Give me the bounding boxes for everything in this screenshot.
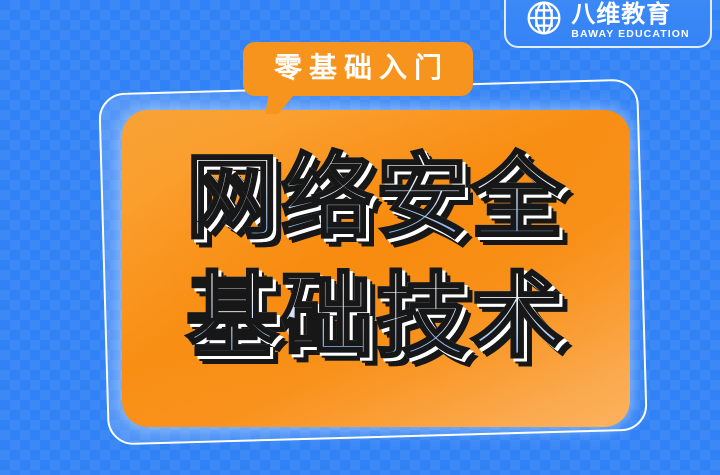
- orange-content-card: 网络安全 基础技术: [122, 110, 630, 427]
- title-line-2: 基础技术: [122, 257, 630, 376]
- poster-canvas: 网络安全 基础技术 零基础入门 八维教育 BAWAY EDUCATION: [0, 0, 720, 475]
- brand-name-cn: 八维教育: [571, 2, 689, 26]
- title-block: 网络安全 基础技术: [122, 138, 630, 376]
- title-line-1: 网络安全: [122, 138, 630, 257]
- zero-basis-badge: 零基础入门: [243, 42, 473, 96]
- globe-grid-icon: [526, 0, 562, 41]
- brand-name-en: BAWAY EDUCATION: [571, 29, 689, 40]
- badge-tail-icon: [265, 94, 295, 114]
- brand-logo: 八维教育 BAWAY EDUCATION: [504, 0, 712, 48]
- brand-logo-inner: 八维教育 BAWAY EDUCATION: [526, 0, 689, 41]
- brand-logo-text: 八维教育 BAWAY EDUCATION: [571, 2, 689, 40]
- badge-label: 零基础入门: [243, 42, 473, 96]
